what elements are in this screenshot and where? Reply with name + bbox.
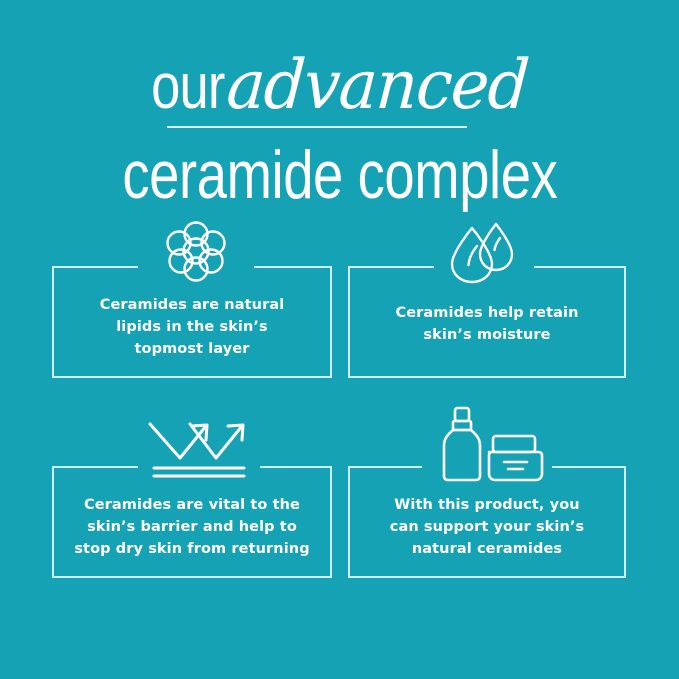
card-top-border-gap [434,264,534,272]
headline-line-2: ceramide complex [0,140,679,211]
card-text-line: natural ceramides [358,538,616,560]
card-text-line: skin’s moisture [358,324,616,346]
headline-word-advanced: advanced [225,52,530,120]
water-droplets-icon [442,220,526,286]
headline-underline-rule [167,126,467,128]
card-top-border-gap [138,264,254,272]
page-title: ouradvanced ceramide complex [0,52,679,126]
headline-word-our: our [152,54,225,118]
card-text-line: topmost layer [62,338,322,360]
card-top-border-gap [138,464,260,472]
card-text-line: stop dry skin from returning [62,538,322,560]
infographic-poster: ouradvanced ceramide complex Ceramides a… [0,0,679,679]
card-text-line: Ceramides help retain [358,302,616,324]
card-top-border-gap [422,464,552,472]
info-card-ceramides-barrier: Ceramides are vital to the skin’s barrie… [52,466,332,578]
info-card-support-natural-ceramides: With this product, you can support your … [348,466,626,578]
card-text: Ceramides are vital to the skin’s barrie… [62,494,322,560]
card-text: With this product, you can support your … [358,494,616,560]
flower-cells-icon [154,220,238,286]
card-text-line: With this product, you [358,494,616,516]
headline-line-2-text: ceramide complex [122,140,557,211]
card-text-line: Ceramides are vital to the [62,494,322,516]
headline-line-1: ouradvanced [0,52,679,126]
card-text-line: skin’s barrier and help to [62,516,322,538]
info-card-ceramides-retain-moisture: Ceramides help retain skin’s moisture [348,266,626,378]
info-card-ceramides-natural-lipids: Ceramides are natural lipids in the skin… [52,266,332,378]
card-text-line: can support your skin’s [358,516,616,538]
card-text-line: lipids in the skin’s [62,316,322,338]
card-text: Ceramides help retain skin’s moisture [358,302,616,346]
card-text-line: Ceramides are natural [62,294,322,316]
card-text: Ceramides are natural lipids in the skin… [62,294,322,360]
